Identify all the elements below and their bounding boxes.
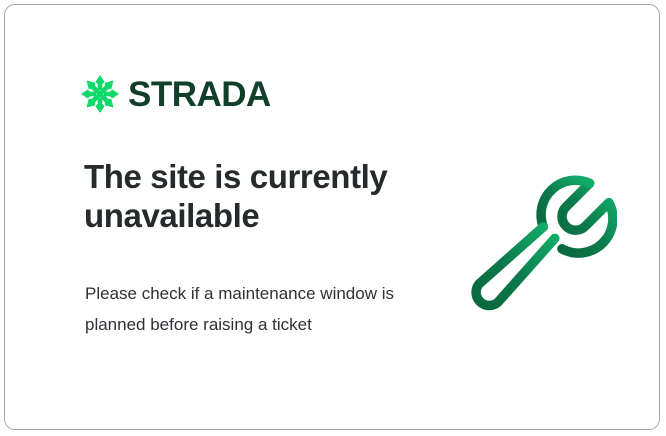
- message-body-text: Please check if a maintenance window is …: [85, 278, 415, 340]
- strada-asterisk-icon: [81, 75, 119, 113]
- brand-logo: STRADA: [81, 75, 271, 113]
- brand-wordmark: STRADA: [128, 77, 271, 112]
- wrench-icon: [457, 160, 617, 318]
- page-title: The site is currently unavailable: [84, 157, 444, 235]
- maintenance-card: STRADA The site is currently unavailable…: [4, 4, 660, 430]
